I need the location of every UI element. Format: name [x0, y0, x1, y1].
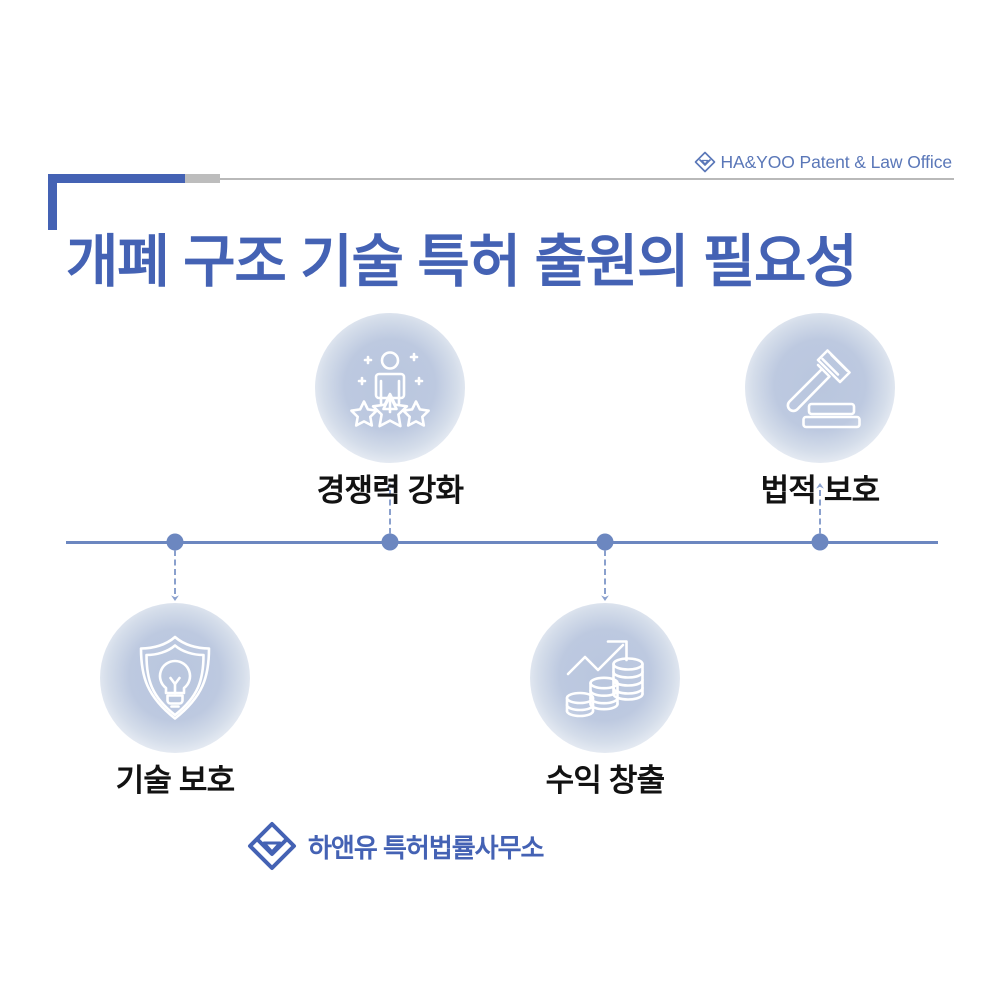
timeline-node-revenue-generation[interactable]: 수익 창출 — [475, 603, 735, 800]
timeline-axis — [66, 541, 938, 544]
timeline-connector-revenue-generation — [604, 550, 606, 594]
timeline-node-label: 기술 보호 — [45, 755, 305, 800]
timeline-node-competitiveness[interactable]: 경쟁력 강화 — [260, 313, 520, 510]
rule-segment-blue — [48, 174, 185, 183]
footer-logo: 하앤유 특허법률사무소 — [246, 818, 546, 874]
timeline-dot-legal-protection[interactable] — [812, 534, 829, 551]
timeline-node-legal-protection[interactable]: 법적 보호 — [690, 313, 950, 510]
shield-lightbulb-icon — [100, 603, 250, 753]
timeline-dot-revenue-generation[interactable] — [597, 534, 614, 551]
footer-company-name: 하앤유 특허법률사무소 — [308, 828, 543, 865]
timeline-node-label: 경쟁력 강화 — [260, 465, 520, 510]
person-three-stars-icon — [315, 313, 465, 463]
arrow-down-icon — [601, 592, 610, 601]
coins-growth-arrow-icon — [530, 603, 680, 753]
rule-segment-thin — [220, 178, 954, 180]
hayoo-diamond-logo-icon — [694, 151, 716, 173]
timeline-connector-tech-protection — [174, 550, 176, 594]
hayoo-diamond-logo-icon — [246, 820, 298, 872]
timeline-dot-competitiveness[interactable] — [382, 534, 399, 551]
title-accent-tick — [48, 174, 57, 230]
page-title: 개폐 구조 기술 특허 출원의 필요성 — [66, 231, 966, 295]
timeline-dot-tech-protection[interactable] — [167, 534, 184, 551]
timeline-node-tech-protection[interactable]: 기술 보호 — [45, 603, 305, 800]
arrow-down-icon — [171, 592, 180, 601]
gavel-icon — [745, 313, 895, 463]
title-rule — [48, 174, 954, 184]
rule-segment-gray — [185, 174, 220, 183]
timeline-node-label: 수익 창출 — [475, 755, 735, 800]
brand-name-en: HA&YOO Patent & Law Office — [721, 152, 953, 173]
timeline-node-label: 법적 보호 — [690, 465, 950, 510]
